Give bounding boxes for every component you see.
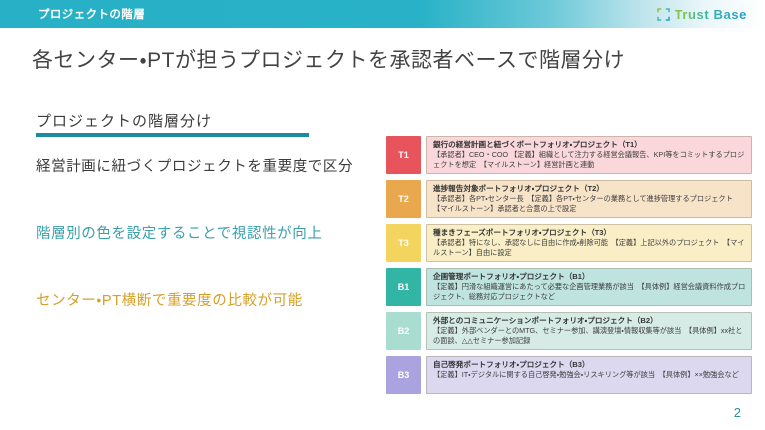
tier-badge: B2 [386,312,421,350]
section-underline [36,133,309,137]
tier-name: 銀行の経営計画と紐づくポートフォリオ・プロジェクト（T1） [433,140,746,149]
bracket-logo-icon [657,8,670,21]
tier-name: 企画管理ポートフォリオ・プロジェクト（B1） [433,272,746,281]
header-title: プロジェクトの階層 [38,6,145,22]
tier-body: 種まきフェーズポートフォリオ・プロジェクト（T3）【承認者】特になし、承認なしに… [426,224,752,262]
tier-row[interactable]: B2外部とのコミュニケーションポートフォリオ・プロジェクト（B2）【定義】外部ベ… [386,312,752,350]
tier-description: 【承認者】特になし、承認なしに自由に作成・削除可能 【定義】上記以外のプロジェク… [433,238,746,257]
bullet-point-3: センター・PT横断で重要度の比較が可能 [36,289,303,310]
page-number: 2 [734,405,741,420]
tier-row[interactable]: T3種まきフェーズポートフォリオ・プロジェクト（T3）【承認者】特になし、承認な… [386,224,752,262]
tier-description: 【定義】円滑な組織運営にあたって必要な企画管理業務が該当 【具体例】経営会議資料… [433,282,746,301]
tier-row[interactable]: T1銀行の経営計画と紐づくポートフォリオ・プロジェクト（T1）【承認者】CEO・… [386,136,752,174]
tier-row[interactable]: T2進捗報告対象ポートフォリオ・プロジェクト（T2）【承認者】各PT・センター長… [386,180,752,218]
tier-badge: T1 [386,136,421,174]
tier-description: 【承認者】CEO・COO 【定義】組織として注力する経営会議報告、KPI等をコミ… [433,150,746,169]
bullet-point-1: 経営計画に紐づくプロジェクトを重要度で区分 [36,155,353,176]
tier-body: 自己啓発ポートフォリオ・プロジェクト（B3）【定義】IT・デジタルに関する自己啓… [426,356,752,394]
slide: プロジェクトの階層 Trust Base 各センター・PTが担うプロジェクトを承… [0,0,765,430]
tier-body: 企画管理ポートフォリオ・プロジェクト（B1）【定義】円滑な組織運営にあたって必要… [426,268,752,306]
tier-name: 外部とのコミュニケーションポートフォリオ・プロジェクト（B2） [433,316,746,325]
tier-description: 【定義】IT・デジタルに関する自己啓発・勉強会・リスキリング等が該当 【具体例】… [433,370,746,380]
tier-body: 進捗報告対象ポートフォリオ・プロジェクト（T2）【承認者】各PT・センター長 【… [426,180,752,218]
section-heading: プロジェクトの階層分け [36,110,212,131]
tier-row[interactable]: B3自己啓発ポートフォリオ・プロジェクト（B3）【定義】IT・デジタルに関する自… [386,356,752,394]
brand-logo: Trust Base [657,7,747,22]
logo-text: Trust Base [675,7,747,22]
tier-name: 進捗報告対象ポートフォリオ・プロジェクト（T2） [433,184,746,193]
tier-body: 銀行の経営計画と紐づくポートフォリオ・プロジェクト（T1）【承認者】CEO・CO… [426,136,752,174]
tier-body: 外部とのコミュニケーションポートフォリオ・プロジェクト（B2）【定義】外部ベンダ… [426,312,752,350]
tier-description: 【承認者】各PT・センター長 【定義】各PT・センターの業務として進捗管理するプ… [433,194,746,213]
tier-name: 種まきフェーズポートフォリオ・プロジェクト（T3） [433,228,746,237]
page-title: 各センター・PTが担うプロジェクトを承認者ベースで階層分け [32,44,625,74]
tier-row[interactable]: B1企画管理ポートフォリオ・プロジェクト（B1）【定義】円滑な組織運営にあたって… [386,268,752,306]
tier-badge: B1 [386,268,421,306]
tier-description: 【定義】外部ベンダーとのMTG、セミナー参加、講演登壇・情報収集等が該当 【具体… [433,326,746,345]
tier-name: 自己啓発ポートフォリオ・プロジェクト（B3） [433,360,746,369]
tier-badge: B3 [386,356,421,394]
bullet-point-2: 階層別の色を設定することで視認性が向上 [36,222,322,243]
tier-list: T1銀行の経営計画と紐づくポートフォリオ・プロジェクト（T1）【承認者】CEO・… [386,136,752,400]
tier-badge: T2 [386,180,421,218]
tier-badge: T3 [386,224,421,262]
